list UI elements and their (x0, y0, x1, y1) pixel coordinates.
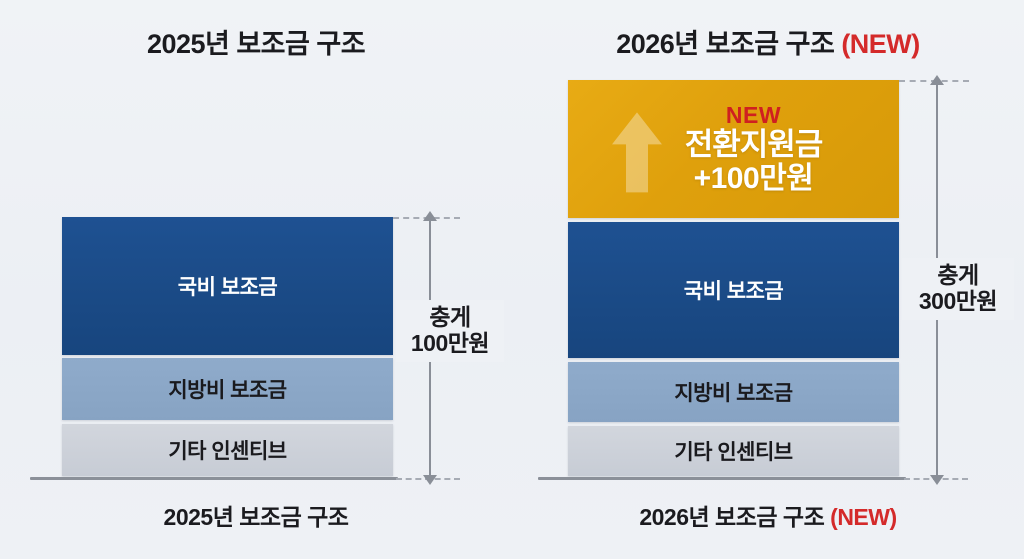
bar-segment-etc-2026-label: 기타 인센티브 (674, 436, 792, 466)
arrow-up-icon (610, 110, 664, 194)
bar-segment-local-2025-label: 지방비 보조금 (168, 374, 286, 404)
panel-2026-title: 2026년 보조금 구조 (NEW) (512, 22, 1024, 61)
bar-segment-local-2026: 지방비 보조금 (568, 362, 899, 422)
bar-segment-national-2025-label: 국비 보조금 (178, 271, 277, 301)
bar-segment-etc-2026: 기타 인센티브 (568, 426, 899, 476)
total-amount-value-2025: 100만원 (398, 331, 502, 357)
total-amount-label-2025: 충게 100만원 (396, 300, 504, 362)
total-amount-caption-2026: 충게 (937, 262, 978, 288)
bar-segment-new-subsidy-2026: NEW 전환지원금 +100만원 (568, 80, 899, 218)
new-subsidy-title: 전환지원금 (685, 129, 823, 162)
new-badge-label: NEW (685, 103, 823, 127)
panel-2026: 2026년 보조금 구조 (NEW) NEW 전환지원금 +100만원 국비 보… (512, 0, 1024, 559)
total-amount-label-2026: 충게 300만원 (902, 258, 1014, 320)
bar-segment-local-2025: 지방비 보조금 (62, 358, 393, 420)
bar-segment-national-2026-label: 국비 보조금 (684, 275, 783, 305)
panel-2025-caption: 2025년 보조금 구조 (0, 498, 512, 532)
bar-segment-etc-2025: 기타 인센티브 (62, 424, 393, 476)
baseline-2026 (538, 477, 906, 480)
bar-segment-etc-2025-label: 기타 인센티브 (168, 435, 286, 465)
panel-2026-caption-main: 2026년 보조금 구조 (639, 504, 824, 530)
new-subsidy-amount: +100만원 (685, 163, 823, 195)
panel-2026-title-new-tag: (NEW) (841, 29, 919, 59)
total-amount-caption-2025: 충게 (429, 304, 470, 330)
arrow-up-head-icon-2025 (423, 211, 437, 221)
arrow-up-head-icon-2026 (930, 75, 944, 85)
panel-2025-title: 2025년 보조금 구조 (0, 22, 512, 61)
subsidy-comparison-infographic: 2025년 보조금 구조 국비 보조금 지방비 보조금 기타 인센티브 충게 1… (0, 0, 1024, 559)
arrow-down-head-icon-2026 (930, 475, 944, 485)
arrow-down-head-icon-2025 (423, 475, 437, 485)
panel-2026-caption-new-tag: (NEW) (830, 504, 896, 530)
panel-2026-title-main: 2026년 보조금 구조 (616, 29, 834, 59)
baseline-2025 (30, 477, 398, 480)
bar-segment-local-2026-label: 지방비 보조금 (674, 377, 792, 407)
total-amount-value-2026: 300만원 (904, 289, 1012, 315)
panel-2026-caption: 2026년 보조금 구조 (NEW) (512, 498, 1024, 532)
bar-segment-national-2025: 국비 보조금 (62, 217, 393, 355)
panel-2025: 2025년 보조금 구조 국비 보조금 지방비 보조금 기타 인센티브 충게 1… (0, 0, 512, 559)
bar-segment-national-2026: 국비 보조금 (568, 222, 899, 358)
